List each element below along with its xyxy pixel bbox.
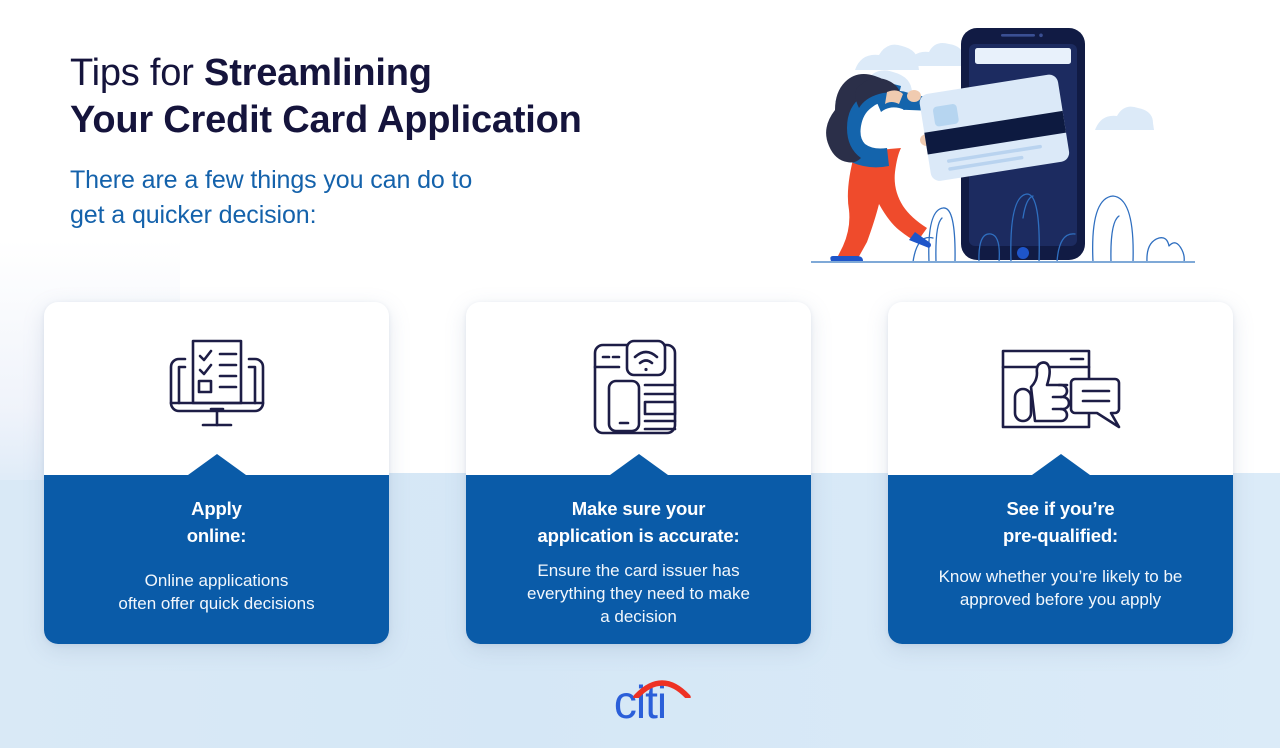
tip-heading-line-1: Make sure your	[572, 498, 706, 519]
phone-search-bar	[975, 48, 1071, 64]
subtitle-line-1: There are a few things you can do to	[70, 166, 472, 194]
tip-heading-line-1: See if you’re	[1006, 498, 1114, 519]
title-regular-text: Tips for	[70, 52, 204, 94]
tip-card-banner: Apply online: Online applications often …	[44, 475, 389, 644]
banner-notch-triangle	[610, 454, 668, 475]
tip-card-body: Know whether you’re likely to be approve…	[902, 565, 1219, 611]
tip-heading-line-2: pre-qualified:	[1003, 525, 1118, 546]
tip-card-heading: Make sure your application is accurate:	[480, 495, 797, 549]
tip-body-line-1: Ensure the card issuer has	[537, 561, 739, 580]
tip-heading-line-2: online:	[187, 525, 247, 546]
person-shoe-back	[830, 256, 863, 261]
page-subtitle: There are a few things you can do to get…	[70, 163, 690, 233]
tip-card-banner: See if you’re pre-qualified: Know whethe…	[888, 475, 1233, 644]
title-bold-streamlining: Streamlining	[204, 52, 432, 94]
tip-card-apply-online[interactable]: Apply online: Online applications often …	[44, 302, 389, 644]
phone-speaker	[1001, 34, 1035, 37]
tip-body-line-3: a decision	[600, 607, 677, 626]
banner-notch-triangle	[1032, 454, 1090, 475]
document-phone-contactless-icon	[466, 302, 811, 475]
banner-notch-triangle	[188, 454, 246, 475]
tip-card-body: Ensure the card issuer has everything th…	[480, 559, 797, 628]
phone-camera-dot	[1039, 34, 1043, 38]
tip-card-accurate-application[interactable]: Make sure your application is accurate: …	[466, 302, 811, 644]
title-bold-line2: Your Credit Card Application	[70, 99, 582, 141]
tip-card-banner: Make sure your application is accurate: …	[466, 475, 811, 644]
footer: citi	[0, 672, 1280, 728]
tip-card-body: Online applications often offer quick de…	[58, 569, 375, 615]
hero-illustration	[795, 0, 1215, 270]
tip-body-line-2: everything they need to make	[527, 584, 750, 603]
browser-thumbs-up-chat-icon	[888, 302, 1233, 475]
credit-card-chip	[932, 103, 959, 127]
phone-home-button	[1017, 247, 1029, 259]
page-title: Tips for Streamlining Your Credit Card A…	[70, 50, 690, 144]
tip-card-heading: See if you’re pre-qualified:	[902, 495, 1219, 549]
person-hand-top	[907, 90, 921, 102]
tip-body-line-1: Online applications	[145, 571, 289, 590]
tips-cards-row: Apply online: Online applications often …	[0, 302, 1280, 647]
tip-card-pre-qualified[interactable]: See if you’re pre-qualified: Know whethe…	[888, 302, 1233, 644]
monitor-checklist-icon	[44, 302, 389, 475]
tip-body-line-1: Know whether you’re likely to be	[939, 567, 1183, 586]
tip-heading-line-2: application is accurate:	[537, 525, 739, 546]
person-figure	[826, 74, 934, 261]
subtitle-line-2: get a quicker decision:	[70, 201, 316, 229]
citi-logo[interactable]: citi	[587, 675, 693, 725]
tip-body-line-2: approved before you apply	[960, 590, 1161, 609]
tip-heading-line-1: Apply	[191, 498, 242, 519]
header: Tips for Streamlining Your Credit Card A…	[70, 50, 690, 233]
tip-card-heading: Apply online:	[58, 495, 375, 549]
tip-body-line-2: often offer quick decisions	[118, 594, 314, 613]
citi-logo-arc-icon	[633, 676, 691, 698]
